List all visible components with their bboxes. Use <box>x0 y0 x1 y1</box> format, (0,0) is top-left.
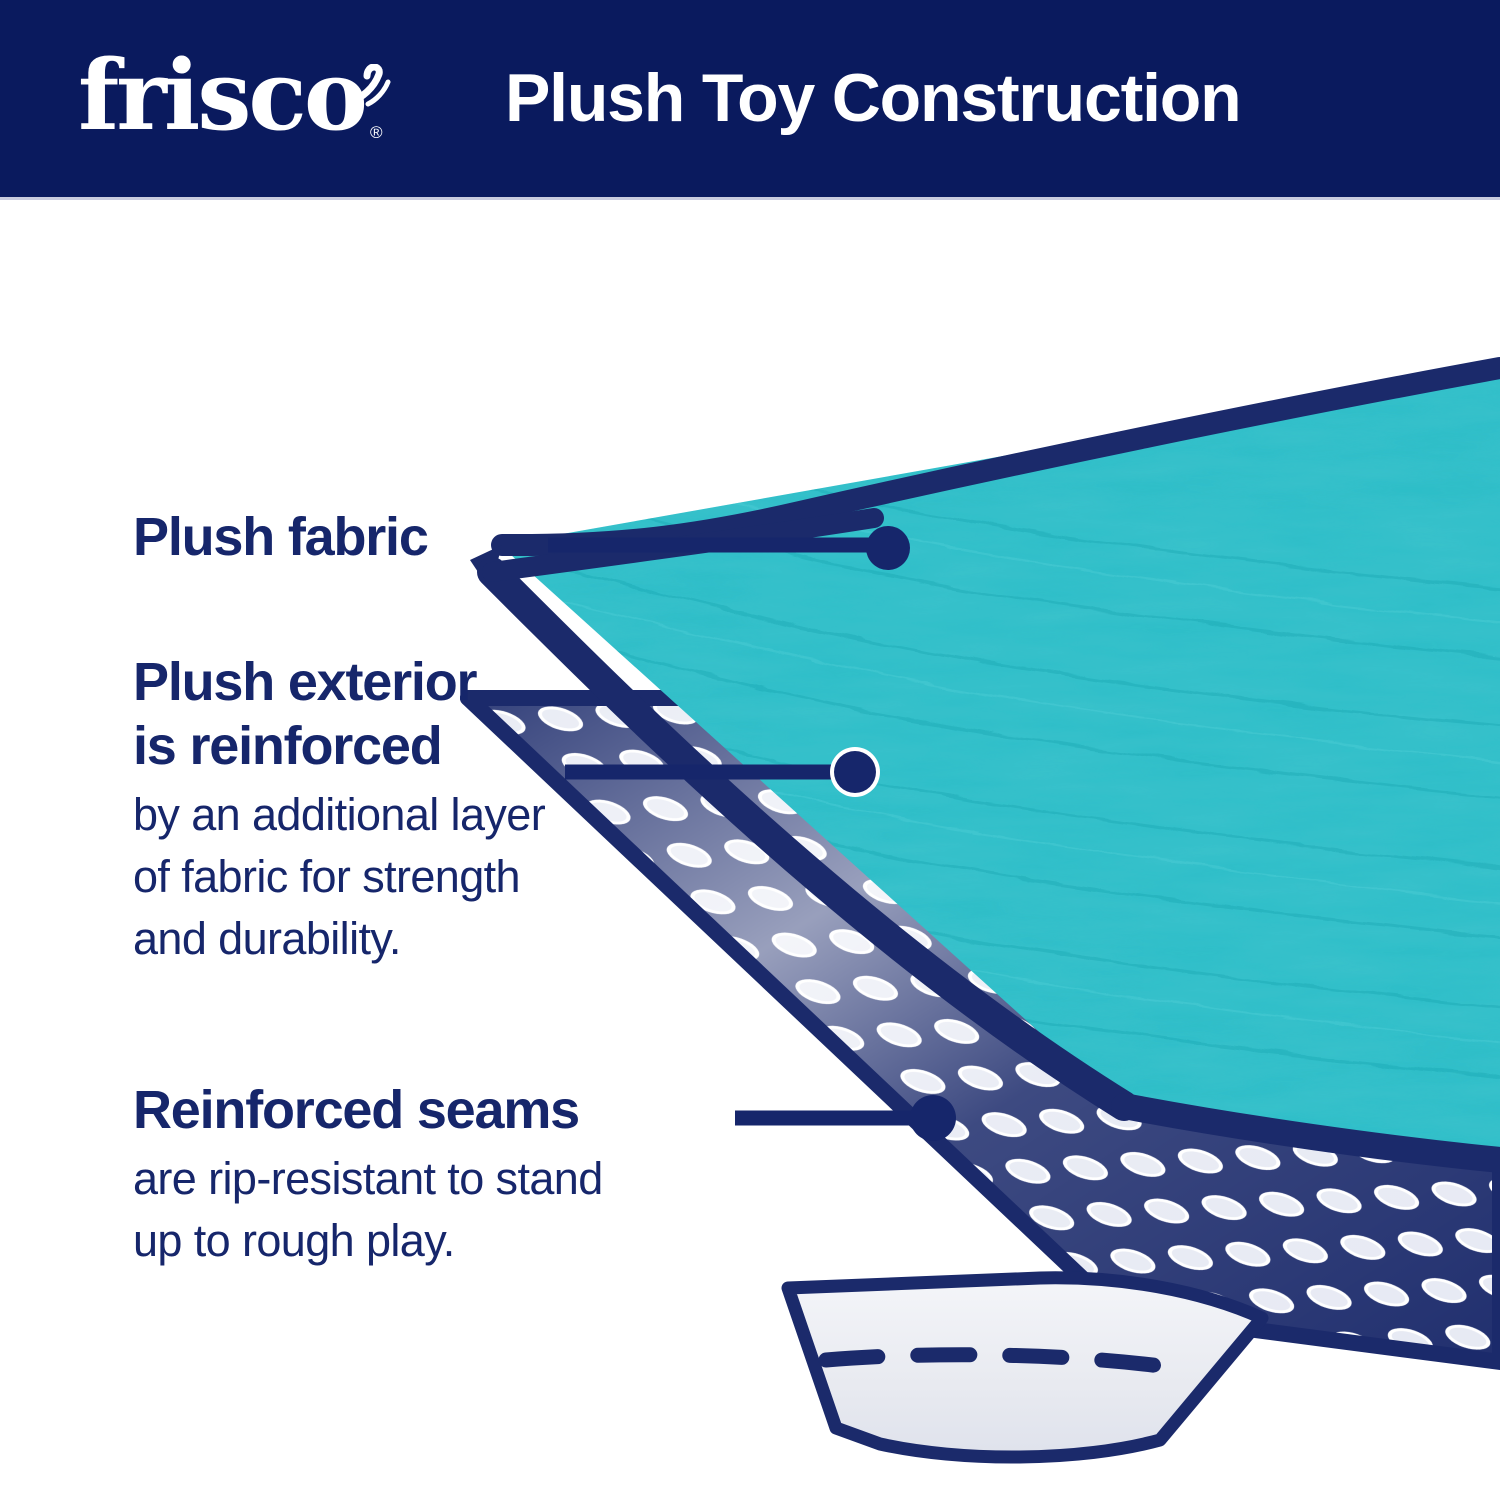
callout-plush-fabric: Plush fabric <box>133 505 563 569</box>
callout-plush-exterior: Plush exterior is reinforced by an addit… <box>133 650 733 970</box>
frisco-logo: frisco ® <box>78 42 398 150</box>
callout-body: by an additional layer of fabric for str… <box>133 784 733 970</box>
page-title: Plush Toy Construction <box>505 52 1240 144</box>
logo-wordmark: frisco <box>78 42 365 150</box>
callout-heading: Plush exterior is reinforced <box>133 650 733 778</box>
callout-reinforced-seams: Reinforced seams are rip-resistant to st… <box>133 1078 813 1272</box>
callout-body: are rip-resistant to stand up to rough p… <box>133 1148 813 1272</box>
page-header: frisco ® Plush Toy Construction <box>0 0 1500 200</box>
seam-flap-layer <box>788 1278 1262 1457</box>
infographic-page: frisco ® Plush Toy Construction <box>0 0 1500 1500</box>
registered-trademark-icon: ® <box>370 124 383 141</box>
frisco-swash-icon <box>346 64 392 108</box>
callout-heading: Reinforced seams <box>133 1078 813 1142</box>
callout-heading: Plush fabric <box>133 505 563 569</box>
